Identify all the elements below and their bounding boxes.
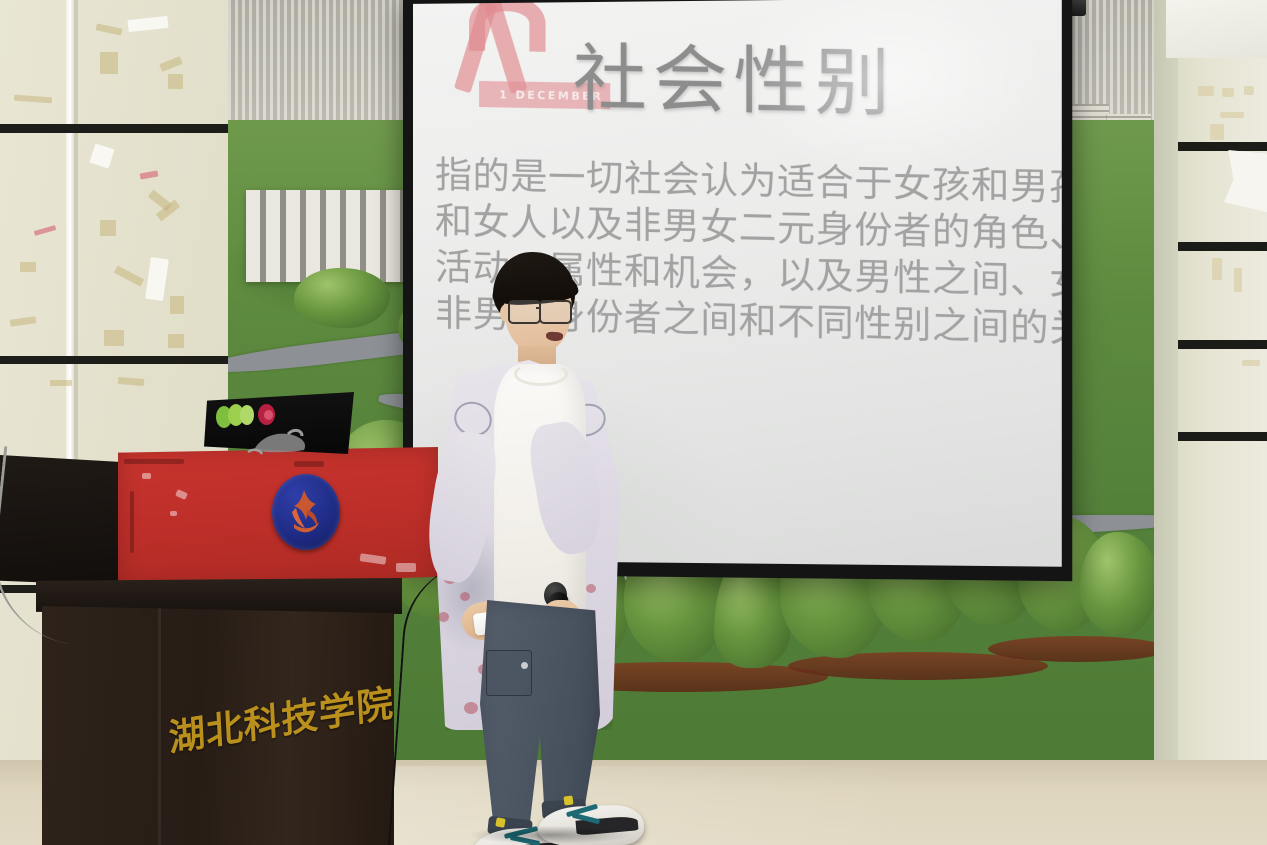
pocket-button-icon: [521, 662, 528, 669]
glasses-bridge: [536, 307, 541, 309]
phoenix-bird-glyph: [284, 488, 324, 534]
speaker-collar: [514, 362, 568, 386]
podium-edge-highlight: [158, 608, 161, 845]
pants-cargo-pocket: [486, 650, 532, 696]
laptop-screen-graphic: [216, 402, 306, 444]
slide-title: 社会性别: [413, 40, 1062, 124]
speaker-presenter: [418, 252, 628, 845]
university-emblem-icon: [272, 474, 340, 550]
lecture-hall-scene: 1 DECEMBER 社会性别 指的是一切社会认为适合于女孩和男孩、男人 和女人…: [0, 0, 1267, 845]
laptop-creature-graphic: [246, 422, 314, 456]
podium-cable: [0, 446, 127, 648]
glasses-icon: [539, 300, 572, 324]
speaker-shadow: [470, 826, 630, 844]
glasses-icon: [508, 300, 541, 324]
ceiling-soffit: [1166, 0, 1267, 58]
